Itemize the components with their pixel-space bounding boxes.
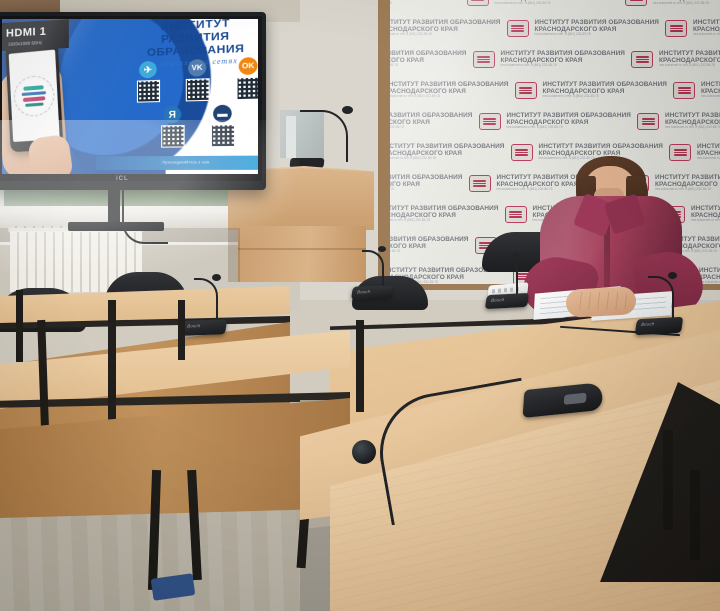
mic-brand-label: Bosch [187, 323, 201, 328]
mic-head [668, 272, 677, 279]
tv-cable [122, 186, 168, 244]
microphone-base: Bosch [485, 293, 529, 309]
mic-buttons [564, 393, 587, 405]
podium-seam [238, 248, 366, 250]
table-leg [16, 290, 23, 362]
microphone-base: Bosch [351, 285, 393, 299]
podium-mic-arm [300, 110, 348, 162]
foreground-mic-head [352, 440, 376, 464]
mic-arm [194, 278, 218, 324]
table-leg [178, 300, 185, 360]
mic-arm [362, 250, 384, 290]
mic-head [512, 252, 520, 258]
microphone-base: Bosch [181, 319, 227, 336]
mic-head [378, 246, 386, 252]
table-leg [663, 430, 673, 530]
podium-equipment-highlight [286, 116, 296, 158]
podium-body [238, 226, 366, 282]
podium-shadow [228, 228, 240, 282]
tv-brand-logo: iCL [116, 176, 129, 182]
tv-stand-neck [108, 184, 120, 226]
table-leg [356, 320, 364, 412]
podium-mic-head [342, 106, 353, 114]
microphone-base: Bosch [635, 317, 684, 335]
mic-head [212, 274, 221, 281]
speaker-fingers [572, 292, 630, 310]
tv-screen-glare [2, 19, 258, 174]
mic-brand-label: Bosch [641, 321, 655, 327]
mic-arm [648, 276, 674, 322]
mic-brand-label: Bosch [357, 289, 371, 294]
table-leg [690, 470, 700, 560]
mic-arm [496, 256, 518, 298]
mic-brand-label: Bosch [491, 297, 505, 303]
conference-room-photo: ИНСТИТУТ РАЗВИТИЯ ОБРАЗОВАНИЯКРАСНОДАРСК… [0, 0, 720, 611]
